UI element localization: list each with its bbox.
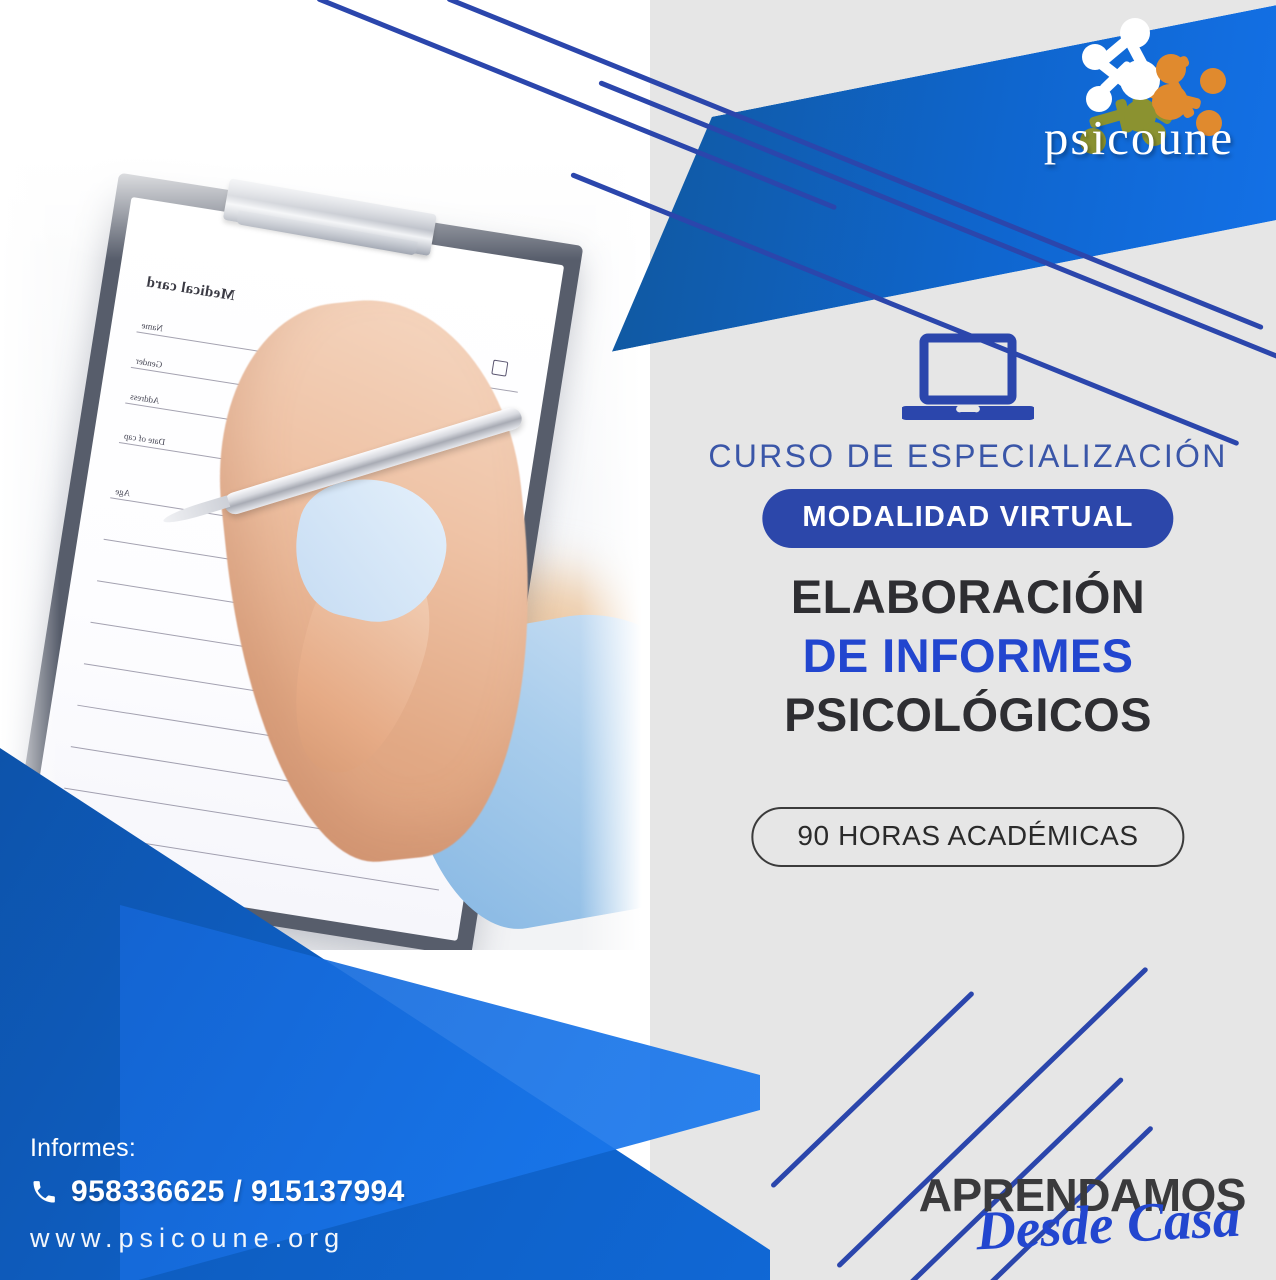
contact-label: Informes: [30,1134,405,1163]
poster-canvas: Medical card Name Gender Ad [0,0,1276,1280]
course-title-line-2: DE INFORMES [660,627,1276,686]
contact-phone-numbers: 958336625 / 915137994 [71,1175,405,1209]
laptop-icon [902,332,1034,429]
contact-block: Informes: 958336625 / 915137994 www.psic… [30,1134,405,1254]
course-title-line-3: PSICOLÓGICOS [660,686,1276,745]
slogan-block: APRENDAMOS Desde Casa [919,1174,1246,1250]
course-title-line-1: ELABORACIÓN [660,568,1276,627]
form-title: Medical card [145,274,236,305]
hours-badge: 90 HORAS ACADÉMICAS [751,807,1184,867]
contact-website[interactable]: www.psicoune.org [30,1223,405,1254]
contact-phone-row[interactable]: 958336625 / 915137994 [30,1175,405,1209]
course-kicker: CURSO DE ESPECIALIZACIÓN [660,438,1276,475]
course-info-block: CURSO DE ESPECIALIZACIÓN MODALIDAD VIRTU… [660,0,1276,1280]
phone-icon [30,1178,58,1206]
modality-badge: MODALIDAD VIRTUAL [762,489,1173,548]
course-title: ELABORACIÓN DE INFORMES PSICOLÓGICOS [660,568,1276,744]
